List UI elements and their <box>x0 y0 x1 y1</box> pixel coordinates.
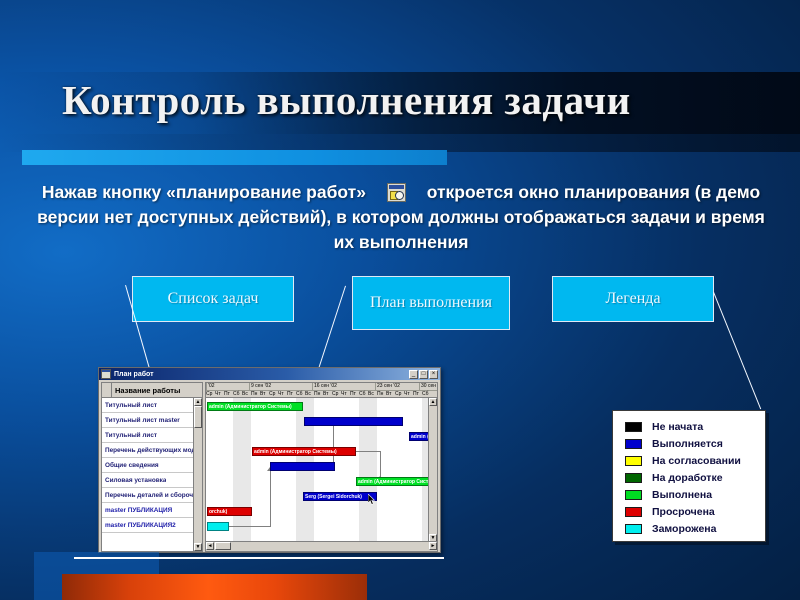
gantt-day-row: Ср Чт Пт Сб Вс Пн Вт Ср Чт Пт Сб Вс Пн В… <box>206 391 437 398</box>
maximize-button[interactable]: □ <box>419 370 428 379</box>
dependency-link <box>270 471 271 527</box>
scroll-down-button[interactable]: ▼ <box>194 543 202 551</box>
weekend-shading <box>242 398 251 551</box>
task-row[interactable]: Общие сведения <box>102 458 202 473</box>
task-list-header: Название работы <box>102 383 202 398</box>
accent-bar <box>22 150 447 165</box>
gantt-bar[interactable] <box>304 417 403 426</box>
task-row[interactable]: master ПУБЛИКАЦИЯ <box>102 503 202 518</box>
dependency-link <box>229 526 271 527</box>
gantt-bar-label: admin (Администратор Системы) <box>254 449 337 455</box>
task-row-label: Перечень действующих модулей <box>105 447 202 454</box>
icon-titlebar <box>389 185 404 189</box>
gantt-week-label: 30 сен <box>419 383 436 390</box>
row-grip-column <box>102 383 112 397</box>
legend-item: Выполнена <box>625 486 765 503</box>
gantt-day-label: Ср <box>395 391 401 398</box>
task-list-pane: Название работы Титульный лист Титульный… <box>101 382 203 552</box>
gantt-day-label: Вт <box>386 391 391 398</box>
gantt-bar-label: Serg (Sergei Sidorchuk) <box>305 494 362 500</box>
gantt-bar-label: orchuk) <box>209 509 227 515</box>
close-button[interactable]: × <box>429 370 438 379</box>
gantt-day-label: Ср <box>269 391 275 398</box>
task-row-label: Перечень деталей и сборочных <box>105 492 202 499</box>
callout-box-task-list: Список задач <box>132 276 294 322</box>
gantt-day-label: Пт <box>350 391 356 398</box>
scroll-right-button[interactable]: ► <box>429 542 437 550</box>
legend-label-not-started: Не начата <box>652 421 703 433</box>
gantt-day-label: Сб <box>296 391 302 398</box>
legend-label-under-approval: На согласовании <box>652 455 741 467</box>
gantt-bar[interactable] <box>207 522 229 531</box>
callout-box-execution-plan: План выполнения <box>352 276 510 330</box>
window-controls: _ □ × <box>409 370 438 379</box>
legend-item: Заморожена <box>625 520 765 537</box>
callout-label-legend: Легенда <box>605 289 660 309</box>
gantt-day-label: Чт <box>341 391 347 398</box>
task-row-label: Титульный лист master <box>105 417 180 424</box>
dependency-link <box>356 451 380 452</box>
minimize-button[interactable]: _ <box>409 370 418 379</box>
gantt-day-label: Чт <box>404 391 410 398</box>
gantt-bar[interactable]: orchuk) <box>207 507 252 516</box>
legend-label-in-progress: Выполняется <box>652 438 723 450</box>
callout-label-execution-plan: План выполнения <box>370 293 492 313</box>
gantt-bar[interactable]: admin (Администратор Системы) <box>356 477 437 486</box>
gantt-timeline-header: '02 9 сен '02 16 сен '02 23 сен '02 30 с… <box>206 383 437 398</box>
task-list-vertical-scrollbar[interactable]: ▲ ▼ <box>193 398 202 551</box>
task-row-label: Силовая установка <box>105 477 166 484</box>
gantt-day-label: Пт <box>287 391 293 398</box>
task-row[interactable]: Титульный лист <box>102 398 202 413</box>
task-row-label: Титульный лист <box>105 432 157 439</box>
gantt-day-label: Сб <box>233 391 239 398</box>
gantt-week-row: '02 9 сен '02 16 сен '02 23 сен '02 30 с… <box>206 383 437 391</box>
legend-swatch-not-started <box>625 422 642 432</box>
bottom-orange-ribbon <box>62 574 367 600</box>
gantt-day-label: Сб <box>422 391 428 398</box>
page-title: Контроль выполнения задачи <box>62 76 762 124</box>
legend-label-completed: Выполнена <box>652 489 712 501</box>
gantt-bar[interactable]: admin (Администратор Системы) <box>252 447 356 456</box>
task-row-label: Общие сведения <box>105 462 159 469</box>
gantt-day-label: Ср <box>206 391 212 398</box>
gantt-day-label: Ср <box>332 391 338 398</box>
scroll-left-button[interactable]: ◄ <box>206 542 214 550</box>
gantt-day-label: Пн <box>314 391 320 398</box>
task-row-label: master ПУБЛИКАЦИЯ2 <box>105 522 176 529</box>
task-row[interactable]: Титульный лист master <box>102 413 202 428</box>
gantt-day-label: Пт <box>413 391 419 398</box>
window-title: План работ <box>114 371 154 378</box>
gantt-day-label: Вс <box>368 391 374 398</box>
gantt-day-label: Вс <box>305 391 311 398</box>
icon-clock-part <box>395 191 404 200</box>
gantt-bar[interactable]: admin (Администратор Системы) <box>207 402 303 411</box>
plan-rabot-window: План работ _ □ × Название работы Титульн… <box>98 367 441 553</box>
callout-box-legend: Легенда <box>552 276 714 322</box>
legend-swatch-under-approval <box>625 456 642 466</box>
window-body: Название работы Титульный лист Титульный… <box>99 380 440 553</box>
gantt-week-label: '02 <box>206 383 215 390</box>
gantt-bar[interactable] <box>270 462 335 471</box>
slide-background: Контроль выполнения задачи Нажав кнопку … <box>0 0 800 600</box>
window-titlebar: План работ _ □ × <box>99 368 440 380</box>
task-list-rows: Титульный лист Титульный лист master Тит… <box>102 398 202 551</box>
scroll-up-button[interactable]: ▲ <box>429 398 437 406</box>
legend-item: На согласовании <box>625 452 765 469</box>
scrollbar-thumb[interactable] <box>215 542 231 550</box>
gantt-grid[interactable]: admin (Администратор Системы) admin (Адм… <box>206 398 437 551</box>
gantt-day-label: Вт <box>260 391 265 398</box>
body-paragraph: Нажав кнопку «планирование работ» открое… <box>26 180 776 255</box>
task-row[interactable]: master ПУБЛИКАЦИЯ2 <box>102 518 202 533</box>
body-text-before-icon: Нажав кнопку «планирование работ» <box>42 182 366 202</box>
gantt-day-label: Чт <box>278 391 284 398</box>
task-row-label: master ПУБЛИКАЦИЯ <box>105 507 172 514</box>
gantt-day-label: Вт <box>323 391 328 398</box>
plan-window-icon <box>101 369 111 379</box>
legend-label-frozen: Заморожена <box>652 523 716 535</box>
gantt-day-label: Пт <box>224 391 230 398</box>
gantt-week-label: 16 сен '02 <box>312 383 337 390</box>
gantt-day-label: Чт <box>215 391 221 398</box>
legend-item: Просрочена <box>625 503 765 520</box>
gantt-chart-pane: '02 9 сен '02 16 сен '02 23 сен '02 30 с… <box>205 382 438 552</box>
legend-label-overdue: Просрочена <box>652 506 715 518</box>
legend-swatch-frozen <box>625 524 642 534</box>
scrollbar-thumb[interactable] <box>194 406 202 428</box>
gantt-week-label: 23 сен '02 <box>375 383 400 390</box>
legend-item: На доработке <box>625 469 765 486</box>
legend-item: Выполняется <box>625 435 765 452</box>
legend-swatch-completed <box>625 490 642 500</box>
task-list-column-header: Название работы <box>112 386 180 395</box>
weekend-shading <box>233 398 242 551</box>
callout-label-task-list: Список задач <box>168 289 259 309</box>
gantt-bar-label: admin (Администратор Системы) <box>209 404 292 410</box>
scroll-up-button[interactable]: ▲ <box>194 398 202 406</box>
task-row[interactable]: Титульный лист <box>102 428 202 443</box>
legend-panel: Не начата Выполняется На согласовании На… <box>612 410 766 542</box>
gantt-day-label: Сб <box>359 391 365 398</box>
gantt-week-label: 9 сен '02 <box>249 383 271 390</box>
task-row[interactable]: Перечень действующих модулей <box>102 443 202 458</box>
bottom-white-rule <box>74 557 444 559</box>
gantt-bar[interactable]: Serg (Sergei Sidorchuk) <box>303 492 377 501</box>
legend-swatch-rework <box>625 473 642 483</box>
legend-swatch-overdue <box>625 507 642 517</box>
gantt-day-label: Пн <box>251 391 257 398</box>
task-row-label: Титульный лист <box>105 402 157 409</box>
gantt-day-label: Вс <box>242 391 248 398</box>
work-planning-button-icon <box>387 183 406 202</box>
legend-swatch-in-progress <box>625 439 642 449</box>
gantt-vertical-scrollbar[interactable]: ▲ ▼ <box>428 398 437 542</box>
gantt-day-label: Пн <box>377 391 383 398</box>
leader-line-legend <box>713 292 761 409</box>
legend-label-rework: На доработке <box>652 472 723 484</box>
gantt-horizontal-scrollbar[interactable]: ◄ ► <box>206 541 437 551</box>
gantt-bar-label: admin (Администратор Системы) <box>358 479 437 485</box>
task-row[interactable]: Перечень деталей и сборочных <box>102 488 202 503</box>
legend-item: Не начата <box>625 418 765 435</box>
task-row[interactable]: Силовая установка <box>102 473 202 488</box>
